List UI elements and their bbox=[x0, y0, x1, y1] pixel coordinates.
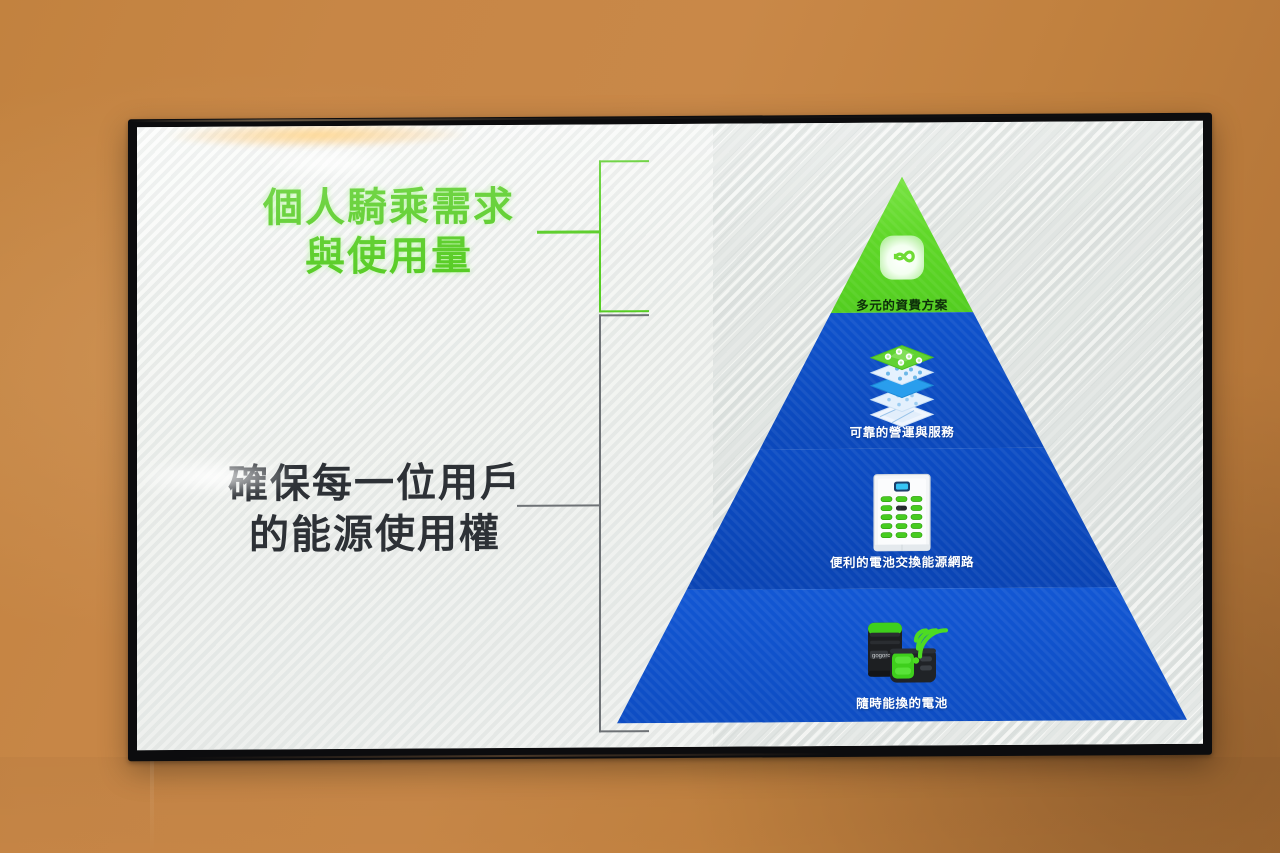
tier-label-swap-network: 便利的電池交換能源網路 bbox=[617, 550, 1187, 572]
infinity-subscription-icon bbox=[879, 234, 925, 280]
map-layers-icon bbox=[863, 344, 941, 428]
ceiling-light-reflection bbox=[167, 121, 467, 149]
secondary-light-reflection bbox=[255, 148, 405, 179]
tier-label-operations-service: 可靠的營運與服務 bbox=[617, 420, 1187, 442]
tier-label-pricing-plans: 多元的資費方案 bbox=[617, 293, 1187, 315]
pyramid-diagram: gogoro bbox=[617, 175, 1187, 730]
television-display: 個人騎乘需求 與使用量 確保每一位用戶 的能源使用權 bbox=[128, 113, 1212, 762]
wall-lower-seam bbox=[0, 757, 1280, 853]
bracket-green-connector bbox=[537, 230, 601, 233]
tier-label-swappable-battery: 隨時能換的電池 bbox=[617, 691, 1187, 713]
tv-screen: 個人騎乘需求 與使用量 確保每一位用戶 的能源使用權 bbox=[137, 121, 1203, 751]
wall-corner-edge bbox=[150, 757, 154, 853]
callout-personal-riding-demand: 個人騎乘需求 與使用量 bbox=[229, 183, 549, 283]
smart-battery-icon: gogoro bbox=[854, 610, 950, 697]
swap-station-icon bbox=[871, 472, 933, 552]
left-edge-reflection bbox=[137, 456, 297, 497]
screenshot-stage: 個人騎乘需求 與使用量 確保每一位用戶 的能源使用權 bbox=[0, 0, 1280, 853]
svg-text:gogoro: gogoro bbox=[872, 653, 891, 659]
